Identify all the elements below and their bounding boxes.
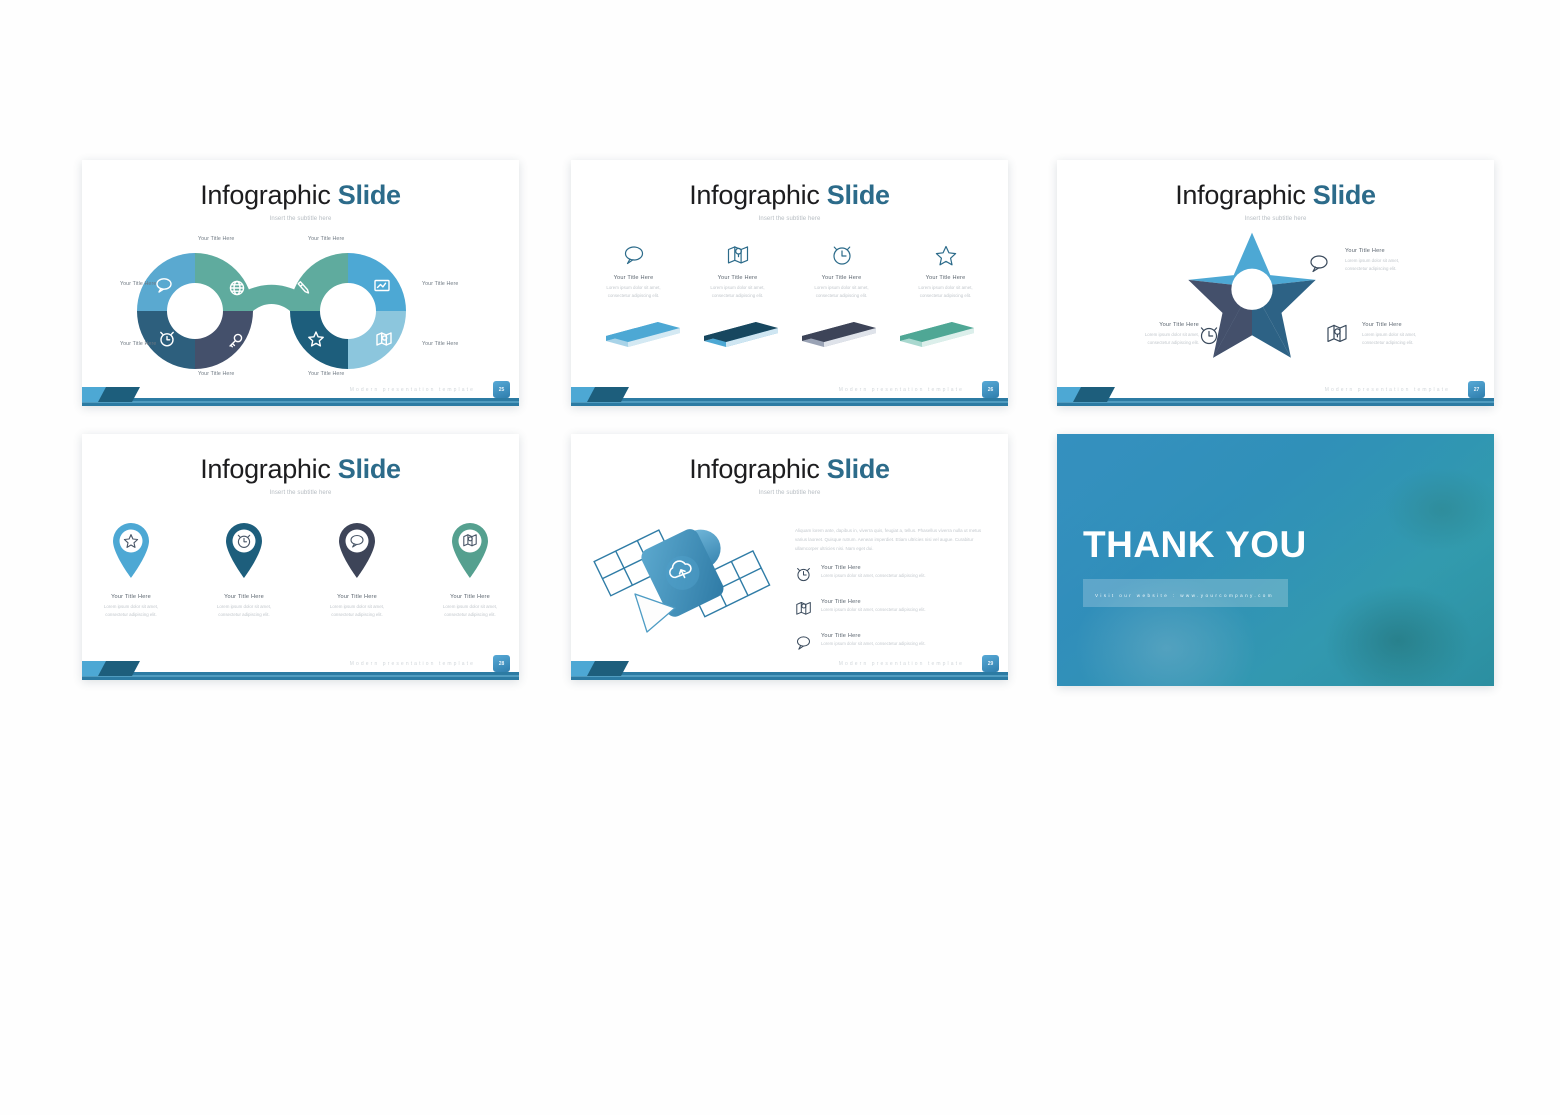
- page-number-badge[interactable]: 28: [493, 655, 510, 672]
- list-item-title: Your Title Here: [821, 599, 926, 605]
- footer-note: Modern presentation template: [839, 661, 964, 667]
- book-shape: [798, 311, 880, 349]
- title-bold: Slide: [827, 180, 890, 210]
- page-subtitle: Insert the subtitle here: [82, 216, 519, 222]
- slide-thumbnail-pins[interactable]: Infographic Slide Insert the subtitle he…: [82, 434, 519, 680]
- footer-bar: [571, 398, 1008, 406]
- scurve-label-top-right: Your Title Here: [308, 236, 344, 242]
- pin-column: Your Title Here Lorem ipsum dolor sit am…: [204, 518, 284, 619]
- list-item-body: Lorem ipsum dolor sit amet, consectetur …: [821, 641, 926, 646]
- list-item-body: Lorem ipsum dolor sit amet, consectetur …: [821, 607, 926, 612]
- list-item-title: Your Title Here: [821, 633, 926, 639]
- star-icon: [909, 242, 983, 268]
- star-diagram: Your Title Here Lorem ipsum dolor sit am…: [1057, 222, 1494, 377]
- feature-body: Lorem ipsum dolor sit amet,consectetur a…: [597, 284, 671, 299]
- footer-bar: [82, 398, 519, 406]
- clock-icon: [805, 242, 879, 268]
- website-text: Visit our website : www.yourcompany.com: [1095, 593, 1274, 598]
- feature-title: Your Title Here: [597, 275, 671, 281]
- feature-column: Your Title Here Lorem ipsum dolor sit am…: [701, 242, 775, 299]
- map-pin-shape: [333, 518, 381, 580]
- scurve-label-bottom-right: Your Title Here: [308, 371, 344, 377]
- pin-body: Lorem ipsum dolor sit amet,consectetur a…: [430, 603, 510, 619]
- feature-body: Lorem ipsum dolor sit amet,consectetur a…: [909, 284, 983, 299]
- scurve-label-bottom-left: Your Title Here: [198, 371, 234, 377]
- pin-column: Your Title Here Lorem ipsum dolor sit am…: [91, 518, 171, 619]
- pin-column: Your Title Here Lorem ipsum dolor sit am…: [317, 518, 397, 619]
- map-pin-shape: [446, 518, 494, 580]
- slide-grid-canvas: Infographic Slide Insert the subtitle he…: [0, 0, 1560, 1115]
- pin-column: Your Title Here Lorem ipsum dolor sit am…: [430, 518, 510, 619]
- slide-thumbnail-thankyou[interactable]: THANK YOU Visit our website : www.yourco…: [1057, 434, 1494, 686]
- star-svg: [1057, 222, 1494, 377]
- scurve-label-right-lower: Your Title Here: [422, 341, 458, 347]
- feature-columns: Your Title Here Lorem ipsum dolor sit am…: [571, 242, 1008, 299]
- book-shape: [602, 311, 684, 349]
- title-light: Infographic: [200, 180, 330, 210]
- callout-body: Lorem ipsum dolor sit amet,consectetur a…: [1362, 331, 1454, 347]
- speech-bubble-icon: [1311, 256, 1327, 272]
- satellite-text-column: Aliquam lorem ante, dapibus in, viverra …: [789, 510, 990, 656]
- slide-thumbnail-books[interactable]: Infographic Slide Insert the subtitle he…: [571, 160, 1008, 406]
- satellite-svg: [589, 510, 785, 635]
- scurve-label-left-upper: Your Title Here: [120, 281, 156, 287]
- feature-title: Your Title Here: [805, 275, 879, 281]
- page-number-badge[interactable]: 29: [982, 655, 999, 672]
- page-title: Infographic Slide: [571, 456, 1008, 483]
- title-bold: Slide: [338, 454, 401, 484]
- feature-column: Your Title Here Lorem ipsum dolor sit am…: [597, 242, 671, 299]
- feature-body: Lorem ipsum dolor sit amet,consectetur a…: [805, 284, 879, 299]
- title-light: Infographic: [689, 180, 819, 210]
- page-subtitle: Insert the subtitle here: [571, 216, 1008, 222]
- feature-title: Your Title Here: [909, 275, 983, 281]
- slide-footer: Modern presentation template 29: [571, 654, 1008, 680]
- footer-note: Modern presentation template: [350, 661, 475, 667]
- list-item-body: Lorem ipsum dolor sit amet, consectetur …: [821, 573, 926, 578]
- callout-title: Your Title Here: [1345, 248, 1437, 254]
- page-subtitle: Insert the subtitle here: [82, 490, 519, 496]
- page-number-badge[interactable]: 26: [982, 381, 999, 398]
- speech-bubble-icon: [795, 633, 813, 656]
- footer-bar: [1057, 398, 1494, 406]
- map-icon: [701, 242, 775, 268]
- feature-body: Lorem ipsum dolor sit amet,consectetur a…: [701, 284, 775, 299]
- star-callout-left: Your Title Here Lorem ipsum dolor sit am…: [1107, 322, 1199, 347]
- slide-footer: Modern presentation template 27: [1057, 380, 1494, 406]
- page-number-badge[interactable]: 25: [493, 381, 510, 398]
- satellite-list-item: Your Title Here Lorem ipsum dolor sit am…: [795, 565, 990, 588]
- footer-bar: [82, 672, 519, 680]
- book-shape: [896, 311, 978, 349]
- pin-title: Your Title Here: [204, 594, 284, 600]
- title-bold: Slide: [827, 454, 890, 484]
- thank-you-heading: THANK YOU: [1083, 526, 1307, 563]
- thank-you-slide: THANK YOU Visit our website : www.yourco…: [1057, 434, 1494, 686]
- title-light: Infographic: [200, 454, 330, 484]
- pin-body: Lorem ipsum dolor sit amet,consectetur a…: [317, 603, 397, 619]
- title-bold: Slide: [338, 180, 401, 210]
- slide-thumbnail-satellite[interactable]: Infographic Slide Insert the subtitle he…: [571, 434, 1008, 680]
- footer-note: Modern presentation template: [839, 387, 964, 393]
- s-curve-svg: [82, 226, 519, 376]
- website-band: Visit our website : www.yourcompany.com: [1083, 579, 1288, 607]
- callout-body: Lorem ipsum dolor sit amet,consectetur a…: [1107, 331, 1199, 347]
- satellite-list-item: Your Title Here Lorem ipsum dolor sit am…: [795, 633, 990, 656]
- slide-footer: Modern presentation template 26: [571, 380, 1008, 406]
- slide-footer: Modern presentation template 28: [82, 654, 519, 680]
- page-title: Infographic Slide: [1057, 182, 1494, 209]
- clock-icon: [795, 565, 813, 588]
- map-pin-shape: [107, 518, 155, 580]
- page-number-badge[interactable]: 27: [1468, 381, 1485, 398]
- callout-body: Lorem ipsum dolor sit amet,consectetur a…: [1345, 257, 1437, 273]
- pin-body: Lorem ipsum dolor sit amet,consectetur a…: [204, 603, 284, 619]
- page-title: Infographic Slide: [571, 182, 1008, 209]
- callout-title: Your Title Here: [1107, 322, 1199, 328]
- scurve-label-top-left: Your Title Here: [198, 236, 234, 242]
- map-icon: [1328, 325, 1346, 341]
- feature-column: Your Title Here Lorem ipsum dolor sit am…: [805, 242, 879, 299]
- feature-title: Your Title Here: [701, 275, 775, 281]
- satellite-paragraph: Aliquam lorem ante, dapibus in, viverra …: [795, 526, 990, 554]
- map-pin-shape: [220, 518, 268, 580]
- star-callout-bottom-right: Your Title Here Lorem ipsum dolor sit am…: [1362, 322, 1454, 347]
- book-shape: [700, 311, 782, 349]
- slide-footer: Modern presentation template 25: [82, 380, 519, 406]
- callout-title: Your Title Here: [1362, 322, 1454, 328]
- slide-thumbnail-star[interactable]: Infographic Slide Insert the subtitle he…: [1057, 160, 1494, 406]
- satellite-list-item: Your Title Here Lorem ipsum dolor sit am…: [795, 599, 990, 622]
- title-bold: Slide: [1313, 180, 1376, 210]
- pin-title: Your Title Here: [317, 594, 397, 600]
- page-title: Infographic Slide: [82, 456, 519, 483]
- clock-icon: [1201, 328, 1216, 344]
- footer-bar: [571, 672, 1008, 680]
- title-light: Infographic: [689, 454, 819, 484]
- scurve-label-right-upper: Your Title Here: [422, 281, 458, 287]
- list-item-title: Your Title Here: [821, 565, 926, 571]
- footer-note: Modern presentation template: [1325, 387, 1450, 393]
- pin-body: Lorem ipsum dolor sit amet,consectetur a…: [91, 603, 171, 619]
- satellite-content-row: Aliquam lorem ante, dapibus in, viverra …: [571, 510, 1008, 656]
- feature-column: Your Title Here Lorem ipsum dolor sit am…: [909, 242, 983, 299]
- slide-thumbnail-scurve[interactable]: Infographic Slide Insert the subtitle he…: [82, 160, 519, 406]
- pin-title: Your Title Here: [91, 594, 171, 600]
- map-icon: [795, 599, 813, 622]
- page-title: Infographic Slide: [82, 182, 519, 209]
- footer-note: Modern presentation template: [350, 387, 475, 393]
- star-callout-top-right: Your Title Here Lorem ipsum dolor sit am…: [1345, 248, 1437, 273]
- page-subtitle: Insert the subtitle here: [571, 490, 1008, 496]
- pin-title: Your Title Here: [430, 594, 510, 600]
- title-light: Infographic: [1175, 180, 1305, 210]
- scurve-label-left-lower: Your Title Here: [120, 341, 156, 347]
- satellite-illustration: [589, 510, 789, 656]
- map-pin-row: Your Title Here Lorem ipsum dolor sit am…: [82, 518, 519, 619]
- book-shapes-row: [571, 311, 1008, 349]
- s-curve-diagram: Your Title Here Your Title Here Your Tit…: [82, 226, 519, 376]
- speech-bubble-icon: [597, 242, 671, 268]
